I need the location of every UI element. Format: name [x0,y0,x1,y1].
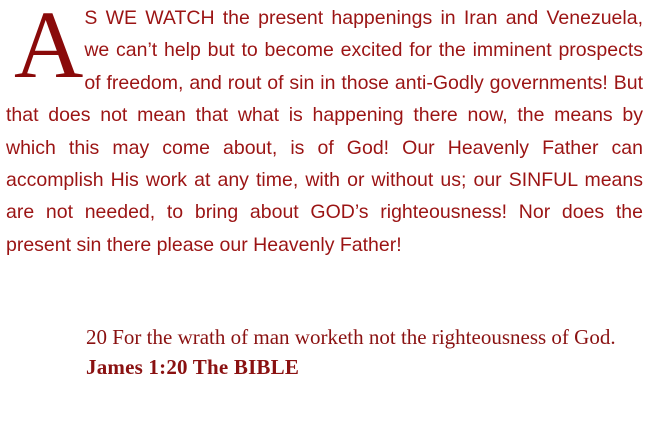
article-body-text: S WE WATCH the present happenings in Ira… [6,7,643,256]
scripture-attribution: James 1:20 The BIBLE [86,352,626,382]
document-page: AS WE WATCH the present happenings in Ir… [0,0,648,427]
article-paragraph: AS WE WATCH the present happenings in Ir… [6,2,643,261]
scripture-verse-text: 20 For the wrath of man worketh not the … [86,322,626,352]
article-paragraph-block: AS WE WATCH the present happenings in Ir… [6,2,643,261]
drop-cap-letter: A [14,6,83,85]
scripture-quote-block: 20 For the wrath of man worketh not the … [86,322,626,382]
